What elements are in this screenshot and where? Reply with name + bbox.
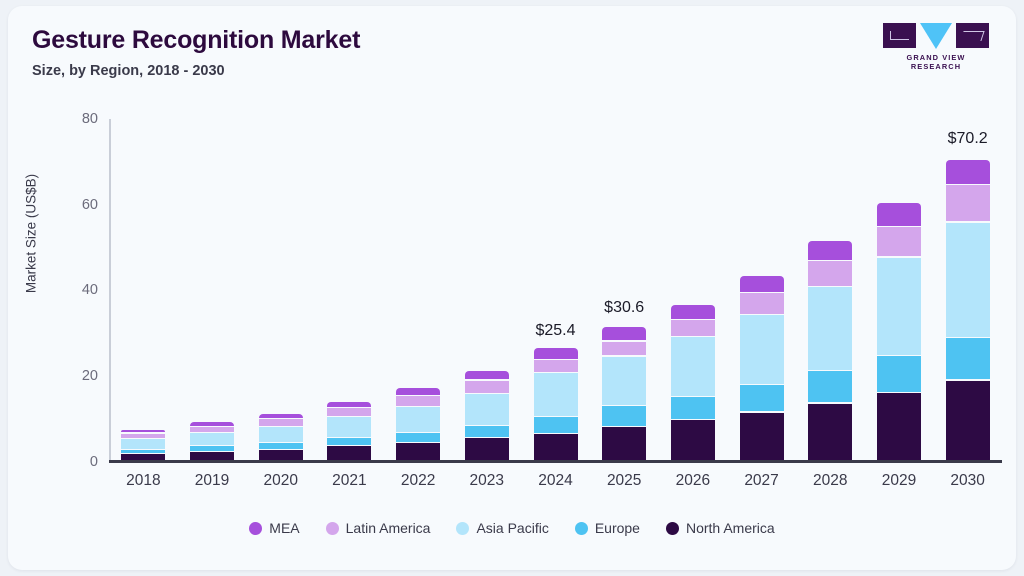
bar-segment-latin-america[interactable] — [808, 261, 852, 285]
bar-segment-latin-america[interactable] — [877, 227, 921, 257]
bar-segment-latin-america[interactable] — [602, 342, 646, 356]
bar-segment-mea[interactable] — [327, 402, 371, 408]
bar-segment-asia-pacific[interactable] — [671, 337, 715, 396]
x-axis-tick-2021: 2021 — [315, 472, 384, 490]
bar-segment-europe[interactable] — [877, 356, 921, 392]
bar-segment-latin-america[interactable] — [327, 408, 371, 416]
bar-segment-europe[interactable] — [671, 397, 715, 418]
bar-segment-asia-pacific[interactable] — [946, 223, 990, 337]
bar-segment-asia-pacific[interactable] — [465, 394, 509, 425]
bar-2021[interactable] — [327, 400, 371, 461]
bar-segment-asia-pacific[interactable] — [877, 258, 921, 355]
bar-segment-latin-america[interactable] — [190, 427, 234, 432]
bar-segment-mea[interactable] — [259, 414, 303, 418]
bar-segment-north-america[interactable] — [534, 434, 578, 461]
bar-segment-mea[interactable] — [190, 422, 234, 426]
bar-segment-latin-america[interactable] — [740, 293, 784, 314]
legend-swatch-icon — [249, 522, 262, 535]
bar-segment-asia-pacific[interactable] — [396, 407, 440, 431]
bar-segment-europe[interactable] — [259, 443, 303, 448]
bar-segment-europe[interactable] — [534, 417, 578, 432]
legend-label: Asia Pacific — [476, 520, 548, 536]
bar-segment-north-america[interactable] — [602, 427, 646, 462]
bar-segment-mea[interactable] — [534, 348, 578, 359]
x-axis-tick-2026: 2026 — [659, 472, 728, 490]
bar-series-container: 2018201920202021202220232024$25.42025$30… — [109, 6, 1002, 570]
y-axis-tick: 80 — [58, 111, 98, 127]
bar-2020[interactable] — [259, 413, 303, 462]
bar-segment-north-america[interactable] — [671, 420, 715, 462]
bar-segment-north-america[interactable] — [740, 413, 784, 462]
bar-segment-europe[interactable] — [396, 433, 440, 442]
bar-segment-europe[interactable] — [740, 385, 784, 412]
bar-2019[interactable] — [190, 421, 234, 462]
x-axis-tick-2024: 2024 — [521, 472, 590, 490]
y-axis-tick: 20 — [58, 368, 98, 384]
bar-segment-asia-pacific[interactable] — [534, 373, 578, 416]
bar-segment-latin-america[interactable] — [259, 419, 303, 425]
bar-segment-latin-america[interactable] — [121, 434, 165, 438]
bar-segment-asia-pacific[interactable] — [121, 439, 165, 449]
x-axis-line — [109, 460, 1002, 463]
bar-2026[interactable] — [671, 307, 715, 462]
x-axis-tick-2030: 2030 — [933, 472, 1002, 490]
x-axis-tick-2022: 2022 — [384, 472, 453, 490]
bar-2029[interactable] — [877, 203, 921, 462]
bar-segment-north-america[interactable] — [396, 443, 440, 461]
bar-segment-north-america[interactable] — [946, 381, 990, 462]
legend-item-asia-pacific[interactable]: Asia Pacific — [456, 520, 548, 536]
bar-2025[interactable] — [602, 331, 646, 462]
y-axis-tick: 0 — [58, 454, 98, 470]
bar-segment-asia-pacific[interactable] — [327, 417, 371, 437]
bar-2030[interactable] — [946, 161, 990, 462]
legend-swatch-icon — [326, 522, 339, 535]
legend-item-latin-america[interactable]: Latin America — [326, 520, 431, 536]
bar-2028[interactable] — [808, 241, 852, 461]
legend-label: Latin America — [346, 520, 431, 536]
bar-segment-mea[interactable] — [946, 160, 990, 184]
x-axis-tick-2018: 2018 — [109, 472, 178, 490]
bar-segment-mea[interactable] — [602, 327, 646, 340]
bar-2027[interactable] — [740, 277, 784, 462]
bar-segment-europe[interactable] — [465, 426, 509, 437]
y-axis-ticks: 020406080 — [58, 6, 98, 570]
bar-segment-asia-pacific[interactable] — [740, 315, 784, 384]
legend-item-mea[interactable]: MEA — [249, 520, 299, 536]
chart-plot-area: Market Size (US$B) 020406080 20182019202… — [8, 6, 1016, 570]
bar-2023[interactable] — [465, 369, 509, 461]
x-axis-tick-2023: 2023 — [452, 472, 521, 490]
legend-swatch-icon — [575, 522, 588, 535]
bar-2024[interactable] — [534, 353, 578, 462]
bar-segment-asia-pacific[interactable] — [259, 427, 303, 442]
bar-segment-latin-america[interactable] — [396, 396, 440, 406]
x-axis-tick-2020: 2020 — [246, 472, 315, 490]
chart-card: Gesture Recognition Market Size, by Regi… — [8, 6, 1016, 570]
bar-segment-mea[interactable] — [121, 430, 165, 433]
legend-label: North America — [686, 520, 775, 536]
legend-item-north-america[interactable]: North America — [666, 520, 775, 536]
bar-segment-latin-america[interactable] — [534, 360, 578, 372]
bar-segment-latin-america[interactable] — [465, 381, 509, 394]
bar-segment-asia-pacific[interactable] — [602, 357, 646, 405]
x-axis-tick-2029: 2029 — [865, 472, 934, 490]
bar-2018[interactable] — [121, 429, 165, 462]
bar-segment-europe[interactable] — [327, 438, 371, 445]
x-axis-tick-2028: 2028 — [796, 472, 865, 490]
data-label-2025: $30.6 — [604, 299, 644, 317]
bar-segment-mea[interactable] — [808, 241, 852, 260]
y-axis-tick: 60 — [58, 197, 98, 213]
bar-segment-europe[interactable] — [121, 450, 165, 453]
bar-segment-europe[interactable] — [190, 446, 234, 450]
bar-segment-mea[interactable] — [465, 371, 509, 380]
bar-segment-asia-pacific[interactable] — [808, 287, 852, 370]
bar-segment-north-america[interactable] — [808, 404, 852, 462]
y-axis-label: Market Size (US$B) — [24, 119, 39, 349]
bar-segment-europe[interactable] — [808, 371, 852, 402]
data-label-2030: $70.2 — [948, 130, 988, 148]
x-axis-tick-2027: 2027 — [727, 472, 796, 490]
legend-label: Europe — [595, 520, 640, 536]
bar-segment-mea[interactable] — [671, 305, 715, 319]
bar-segment-europe[interactable] — [602, 406, 646, 425]
y-axis-tick: 40 — [58, 282, 98, 298]
bar-segment-north-america[interactable] — [465, 438, 509, 461]
bar-segment-north-america[interactable] — [877, 393, 921, 462]
bar-segment-europe[interactable] — [946, 338, 990, 379]
bar-segment-latin-america[interactable] — [671, 320, 715, 336]
legend-swatch-icon — [456, 522, 469, 535]
legend-label: MEA — [269, 520, 299, 536]
x-axis-tick-2025: 2025 — [590, 472, 659, 490]
data-label-2024: $25.4 — [535, 322, 575, 340]
legend-swatch-icon — [666, 522, 679, 535]
bar-2022[interactable] — [396, 387, 440, 461]
bar-segment-latin-america[interactable] — [946, 185, 990, 221]
bar-segment-mea[interactable] — [740, 276, 784, 292]
bar-segment-mea[interactable] — [396, 388, 440, 395]
bar-segment-asia-pacific[interactable] — [190, 433, 234, 446]
chart-legend: MEALatin AmericaAsia PacificEuropeNorth … — [8, 520, 1016, 536]
legend-item-europe[interactable]: Europe — [575, 520, 640, 536]
bar-segment-mea[interactable] — [877, 203, 921, 225]
x-axis-tick-2019: 2019 — [178, 472, 247, 490]
